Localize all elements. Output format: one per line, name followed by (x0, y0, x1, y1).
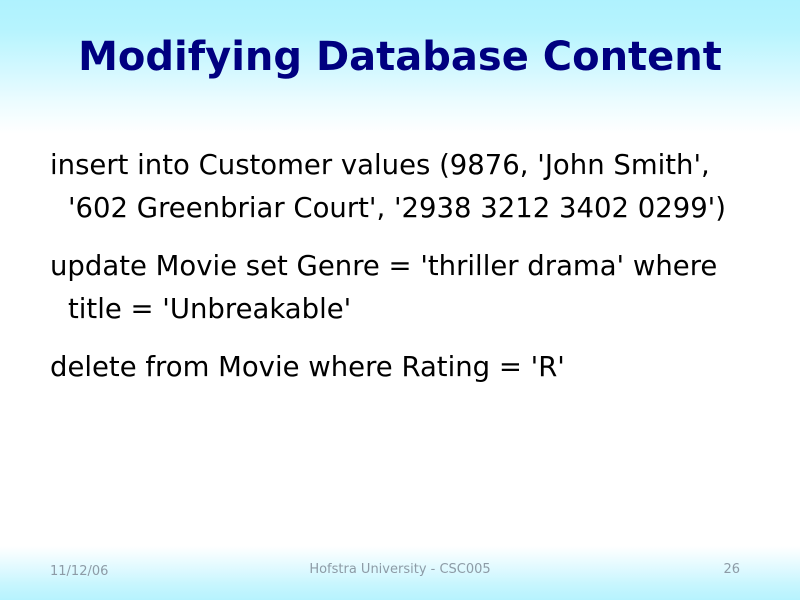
slide-body: insert into Customer values (9876, 'John… (50, 144, 736, 389)
footer-page-number: 26 (723, 562, 740, 578)
sql-statement-delete: delete from Movie where Rating = 'R' (50, 346, 736, 389)
slide: Modifying Database Content insert into C… (0, 0, 800, 600)
slide-footer: 11/12/06 Hofstra University - CSC005 26 (0, 546, 800, 600)
sql-statement-insert: insert into Customer values (9876, 'John… (50, 144, 736, 230)
page-title: Modifying Database Content (0, 33, 800, 81)
sql-statement-update: update Movie set Genre = 'thriller drama… (50, 245, 736, 331)
footer-course-label: Hofstra University - CSC005 (0, 562, 800, 578)
